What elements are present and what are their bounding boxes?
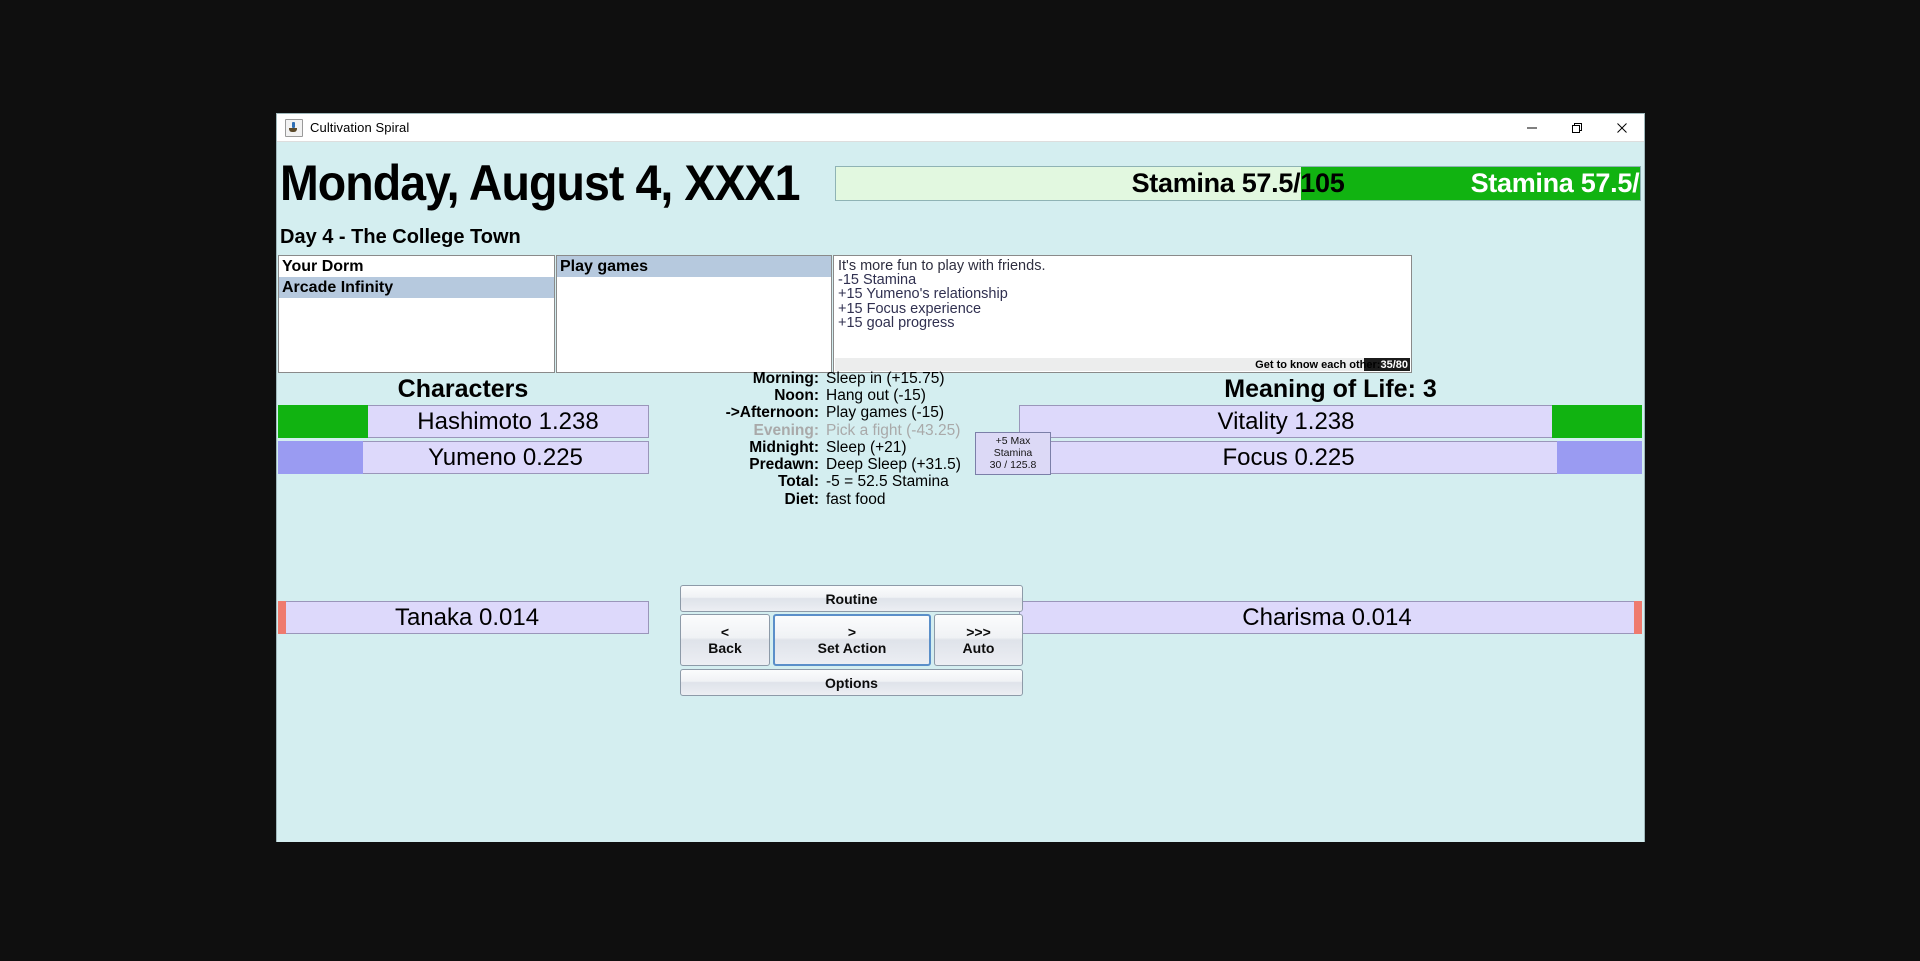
schedule-time-label: Midnight:: [697, 439, 819, 457]
schedule-action-value: Play games (-15): [819, 404, 944, 422]
schedule-row-noon[interactable]: Noon: Hang out (-15): [697, 387, 1017, 404]
options-button[interactable]: Options: [680, 669, 1023, 696]
stat-row-charisma[interactable]: Charisma 0.014: [1019, 601, 1642, 634]
fast-forward-arrow-icon: >>>: [966, 625, 991, 640]
relationship-progress-label: Get to know each other:35/80: [1255, 359, 1410, 371]
character-bar: [278, 405, 368, 438]
max-stamina-tooltip: +5 Max Stamina 30 / 125.8: [975, 432, 1051, 475]
forward-arrow-icon: >: [848, 625, 856, 640]
schedule-time-label: Evening:: [697, 422, 819, 440]
description-line: It's more fun to play with friends.: [838, 259, 1411, 273]
set-action-button[interactable]: > Set Action: [773, 614, 931, 666]
auto-button-label: Auto: [963, 640, 995, 656]
title-bar: Cultivation Spiral: [277, 114, 1644, 142]
description-line: +15 Focus experience: [838, 302, 1411, 316]
screen: Cultivation Spiral: [0, 0, 1920, 961]
schedule-action-value: Hang out (-15): [819, 387, 926, 405]
stat-row-focus[interactable]: Focus 0.225: [1019, 441, 1642, 474]
schedule-action-value: Deep Sleep (+31.5): [819, 456, 961, 474]
stat-bar: [1557, 441, 1642, 474]
action-description-panel: It's more fun to play with friends. -15 …: [833, 255, 1412, 373]
schedule-row-predawn[interactable]: Predawn: Deep Sleep (+31.5): [697, 456, 1017, 473]
schedule-row-afternoon[interactable]: ->Afternoon: Play games (-15): [697, 405, 1017, 422]
relationship-value-text: 35/80: [1380, 359, 1408, 371]
daily-schedule: Morning: Sleep in (+15.75) Noon: Hang ou…: [697, 370, 1017, 508]
window-title: Cultivation Spiral: [310, 120, 409, 135]
stat-bar: [1552, 405, 1642, 438]
routine-button-label: Routine: [825, 591, 877, 607]
stat-label: Vitality 1.238: [1019, 405, 1552, 438]
schedule-action-value: Pick a fight (-43.25): [819, 422, 960, 440]
description-line: +15 Yumeno's relationship: [838, 287, 1411, 301]
tooltip-line-1: +5 Max Stamina: [977, 435, 1049, 459]
back-button-label: Back: [708, 640, 741, 656]
locations-list[interactable]: Your Dorm Arcade Infinity: [278, 255, 555, 373]
minimize-icon[interactable]: [1509, 114, 1554, 141]
back-button[interactable]: < Back: [680, 614, 770, 666]
stamina-bar: Stamina 57.5/105 Stamina 57.5/105: [835, 166, 1641, 201]
schedule-action-value: Sleep (+21): [819, 439, 907, 457]
back-arrow-icon: <: [721, 625, 729, 640]
character-bar: [278, 441, 363, 474]
schedule-row-evening[interactable]: Evening: Pick a fight (-43.25): [697, 422, 1017, 439]
schedule-row-morning[interactable]: Morning: Sleep in (+15.75): [697, 370, 1017, 387]
list-item-action[interactable]: Play games: [557, 256, 831, 277]
schedule-total-value: -5 = 52.5 Stamina: [819, 473, 949, 491]
schedule-action-value: Sleep in (+15.75): [819, 370, 944, 388]
day-location-subtitle: Day 4 - The College Town: [280, 226, 521, 249]
character-bar: [278, 601, 286, 634]
schedule-time-label: Morning:: [697, 370, 819, 388]
schedule-row-diet[interactable]: Diet: fast food: [697, 491, 1017, 508]
schedule-diet-value: fast food: [819, 491, 885, 509]
page-title: Monday, August 4, XXX1: [280, 154, 800, 212]
stat-bar: [1634, 601, 1642, 634]
window-controls: [1509, 114, 1644, 141]
routine-button[interactable]: Routine: [680, 585, 1023, 612]
description-line: -15 Stamina: [838, 273, 1411, 287]
character-row-yumeno[interactable]: Yumeno 0.225: [278, 441, 649, 474]
restore-icon[interactable]: [1554, 114, 1599, 141]
schedule-time-label: Predawn:: [697, 456, 819, 474]
character-label: Tanaka 0.014: [286, 601, 649, 634]
set-action-button-label: Set Action: [818, 640, 887, 656]
meaning-of-life-title: Meaning of Life: 3: [1019, 375, 1642, 404]
characters-panel-title: Characters: [278, 375, 648, 404]
schedule-row-midnight[interactable]: Midnight: Sleep (+21): [697, 439, 1017, 456]
schedule-total-label: Total:: [697, 473, 819, 491]
list-item-location[interactable]: Arcade Infinity: [279, 277, 554, 298]
character-row-tanaka[interactable]: Tanaka 0.014: [278, 601, 649, 634]
schedule-diet-label: Diet:: [697, 491, 819, 509]
stat-label: Focus 0.225: [1019, 441, 1557, 474]
stamina-label-highlight-text: Stamina 57.5/105: [1301, 167, 1640, 200]
schedule-time-label: ->Afternoon:: [697, 404, 819, 422]
character-label: Yumeno 0.225: [363, 441, 649, 474]
game-content: Monday, August 4, XXX1 Day 4 - The Colle…: [277, 142, 1644, 842]
options-button-label: Options: [825, 675, 878, 691]
tooltip-line-2: 30 / 125.8: [977, 459, 1049, 471]
close-icon[interactable]: [1599, 114, 1644, 141]
stat-row-vitality[interactable]: Vitality 1.238: [1019, 405, 1642, 438]
actions-list[interactable]: Play games: [556, 255, 832, 373]
character-label: Hashimoto 1.238: [368, 405, 649, 438]
java-coffee-icon: [285, 119, 303, 137]
description-line: +15 goal progress: [838, 316, 1411, 330]
app-window: Cultivation Spiral: [277, 114, 1644, 841]
selection-panels: Your Dorm Arcade Infinity Play games It'…: [278, 255, 1642, 373]
schedule-time-label: Noon:: [697, 387, 819, 405]
character-row-hashimoto[interactable]: Hashimoto 1.238: [278, 405, 649, 438]
schedule-row-total: Total: -5 = 52.5 Stamina: [697, 474, 1017, 491]
stat-label: Charisma 0.014: [1019, 601, 1634, 634]
relationship-label-text: Get to know each other:: [1255, 359, 1380, 371]
list-item-location[interactable]: Your Dorm: [279, 256, 554, 277]
stamina-label-highlight: Stamina 57.5/105: [1301, 167, 1640, 200]
action-description-text: It's more fun to play with friends. -15 …: [834, 256, 1411, 330]
auto-button[interactable]: >>> Auto: [934, 614, 1023, 666]
